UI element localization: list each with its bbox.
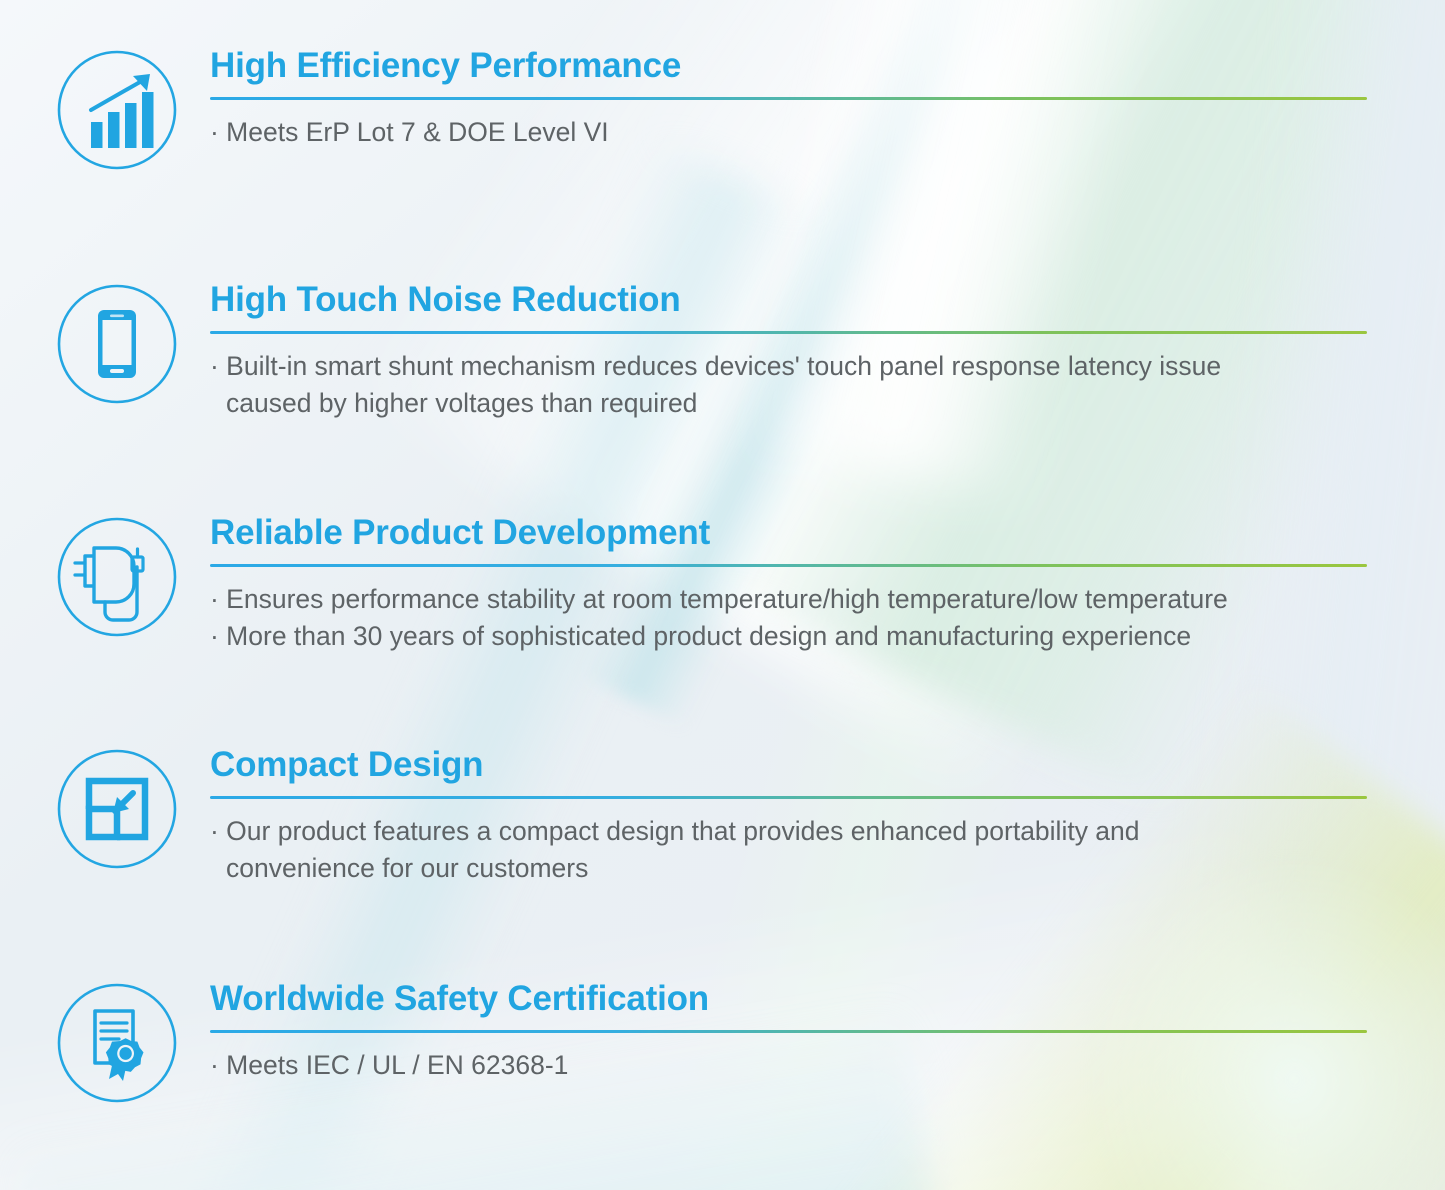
feature-text-block: High Efficiency Performance · Meets ErP … xyxy=(182,48,1445,151)
feature-divider xyxy=(210,564,1367,567)
feature-line-indent: caused by higher voltages than required xyxy=(210,385,697,423)
feature-title: Reliable Product Development xyxy=(210,515,1367,552)
feature-description: · Built-in smart shunt mechanism reduces… xyxy=(210,348,1367,423)
feature-icon-wrapper xyxy=(52,282,182,406)
feature-bullet-line: · More than 30 years of sophisticated pr… xyxy=(210,618,1367,656)
feature-line-indent: convenience for our customers xyxy=(210,850,588,888)
feature-divider xyxy=(210,1030,1367,1033)
feature-bullet-line: · Meets IEC / UL / EN 62368-1 xyxy=(210,1047,1367,1085)
feature-description: · Our product features a compact design … xyxy=(210,813,1367,888)
feature-icon-wrapper xyxy=(52,515,182,639)
feature-text-block: Reliable Product Development · Ensures p… xyxy=(182,515,1445,656)
feature-icon-wrapper xyxy=(52,981,182,1105)
feature-icon-wrapper xyxy=(52,48,182,172)
power-adapter-icon xyxy=(55,515,179,639)
feature-title: High Efficiency Performance xyxy=(210,48,1367,85)
feature-divider xyxy=(210,331,1367,334)
feature-icon-wrapper xyxy=(52,747,182,871)
feature-description: · Ensures performance stability at room … xyxy=(210,581,1367,656)
feature-highlights-page: High Efficiency Performance · Meets ErP … xyxy=(0,0,1445,1190)
certificate-award-icon xyxy=(55,981,179,1105)
feature-description: · Meets ErP Lot 7 & DOE Level VI xyxy=(210,114,1367,152)
feature-item: Compact Design · Our product features a … xyxy=(0,747,1445,888)
feature-divider xyxy=(210,97,1367,100)
feature-title: Compact Design xyxy=(210,747,1367,784)
feature-divider xyxy=(210,796,1367,799)
feature-bullet-line: · Built-in smart shunt mechanism reduces… xyxy=(210,348,1367,386)
bar-chart-growth-icon xyxy=(55,48,179,172)
feature-bullet-line: · Meets ErP Lot 7 & DOE Level VI xyxy=(210,114,1367,152)
compact-resize-icon xyxy=(55,747,179,871)
feature-item: Worldwide Safety Certification · Meets I… xyxy=(0,981,1445,1105)
feature-bullet-line: · Our product features a compact design … xyxy=(210,813,1367,851)
smartphone-icon xyxy=(55,282,179,406)
feature-item: Reliable Product Development · Ensures p… xyxy=(0,515,1445,656)
feature-text-block: High Touch Noise Reduction · Built-in sm… xyxy=(182,282,1445,423)
feature-text-block: Worldwide Safety Certification · Meets I… xyxy=(182,981,1445,1084)
feature-bullet-line-cont: caused by higher voltages than required xyxy=(210,385,1367,423)
feature-bullet-line: · Ensures performance stability at room … xyxy=(210,581,1367,619)
feature-title: Worldwide Safety Certification xyxy=(210,981,1367,1018)
feature-bullet-line-cont: convenience for our customers xyxy=(210,850,1367,888)
feature-item: High Touch Noise Reduction · Built-in sm… xyxy=(0,282,1445,423)
feature-description: · Meets IEC / UL / EN 62368-1 xyxy=(210,1047,1367,1085)
feature-text-block: Compact Design · Our product features a … xyxy=(182,747,1445,888)
feature-item: High Efficiency Performance · Meets ErP … xyxy=(0,48,1445,172)
feature-title: High Touch Noise Reduction xyxy=(210,282,1367,319)
